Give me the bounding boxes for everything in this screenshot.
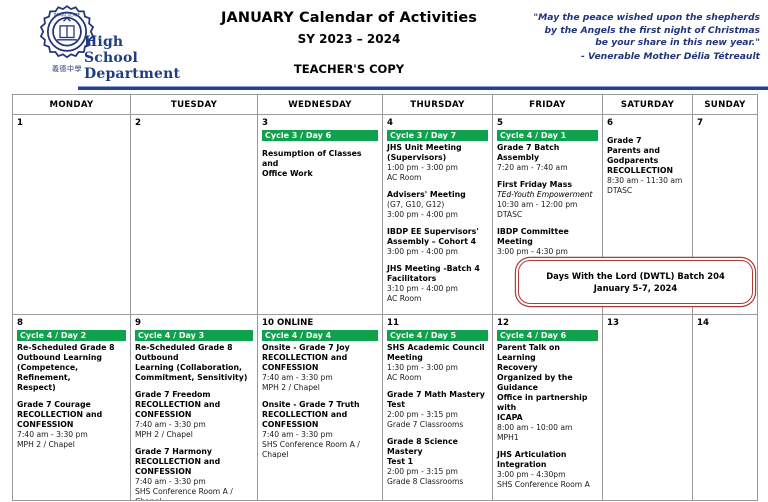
event-title-line: JHS Meeting -Batch 4 <box>387 264 488 274</box>
event-title-line: RECOLLECTION and CONFESSION <box>135 457 253 477</box>
day-number: 2 <box>135 118 253 129</box>
calendar-event[interactable]: Onsite - Grade 7 JoyRECOLLECTION and CON… <box>262 343 378 393</box>
event-title-line: Office in partnership with <box>497 393 598 413</box>
cycle-day-badge: Cycle 4 / Day 2 <box>17 330 126 341</box>
dwtl-title: Days With the Lord (DWTL) Batch 204 <box>546 270 725 282</box>
event-title-line: Office Work <box>262 169 378 179</box>
event-title-line: Grade 7 Math Mastery Test <box>387 390 488 410</box>
event-detail-line: AC Room <box>387 294 488 304</box>
event-detail-line: 1:30 pm - 3:00 pm <box>387 363 488 373</box>
event-title-line: Organized by the Guidance <box>497 373 598 393</box>
department-line-1: High School <box>84 34 180 66</box>
quote-line: "May the peace wished upon the shepherds <box>520 12 760 25</box>
event-title-line: SHS Academic Council <box>387 343 488 353</box>
event-title-line: JHS Unit Meeting <box>387 143 488 153</box>
calendar-day-cell[interactable]: 14 <box>693 315 758 501</box>
event-title-line: Commitment, Sensitivity) <box>135 373 253 383</box>
event-title-line: IBDP EE Supervisors' <box>387 227 488 237</box>
event-detail-line: SHS Conference Room A / Chapel <box>262 440 378 460</box>
day-number: 1 <box>17 118 126 129</box>
cycle-day-badge: Cycle 4 / Day 1 <box>497 130 598 141</box>
quote-block: "May the peace wished upon the shepherds… <box>520 0 768 63</box>
calendar-event[interactable]: JHS Unit Meeting(Supervisors)1:00 pm - 3… <box>387 143 488 183</box>
event-title-line: Meeting <box>387 353 488 363</box>
header-divider <box>78 86 768 90</box>
event-title-line: Learning (Collaboration, <box>135 363 253 373</box>
event-detail-line: 10:30 am - 12:00 pm <box>497 200 598 210</box>
calendar-event[interactable]: SHS Academic CouncilMeeting1:30 pm - 3:0… <box>387 343 488 383</box>
event-title-line: Grade 7 Courage <box>17 400 126 410</box>
event-detail-line: MPH 2 / Chapel <box>135 430 253 440</box>
event-detail-line: 3:00 pm - 4:00 pm <box>387 247 488 257</box>
calendar-week-row: 8Cycle 4 / Day 2Re-Scheduled Grade 8Outb… <box>13 315 758 501</box>
event-detail-line: 1:00 pm - 3:00 pm <box>387 163 488 173</box>
calendar-day-cell[interactable]: 11Cycle 4 / Day 5SHS Academic CouncilMee… <box>383 315 493 501</box>
event-detail-line: 8:30 am - 11:30 am <box>607 176 688 186</box>
event-title-line: Resumption of Classes and <box>262 149 378 169</box>
event-detail-line: MPH 2 / Chapel <box>17 440 126 450</box>
event-detail-line: 7:40 am - 3:30 pm <box>17 430 126 440</box>
calendar-day-cell[interactable]: 1 <box>13 115 131 315</box>
calendar-event[interactable]: Re-Scheduled Grade 8 OutboundLearning (C… <box>135 343 253 383</box>
event-detail-line: AC Room <box>387 173 488 183</box>
event-detail-line: 7:40 am - 3:30 pm <box>135 420 253 430</box>
calendar-event[interactable]: Grade 7 CourageRECOLLECTION andCONFESSIO… <box>17 400 126 450</box>
page-title: JANUARY Calendar of Activities <box>178 10 520 26</box>
calendar-event[interactable]: Grade 7 Math Mastery Test2:00 pm - 3:15 … <box>387 390 488 430</box>
event-title-line: Grade 7 Freedom <box>135 390 253 400</box>
calendar-event[interactable]: Grade 7 HarmonyRECOLLECTION and CONFESSI… <box>135 447 253 501</box>
event-title-line: ICAPA <box>497 413 598 423</box>
quote-attribution: - Venerable Mother Délia Tétreault <box>520 51 760 64</box>
event-detail-line: 7:40 am - 3:30 pm <box>262 430 378 440</box>
day-number: 5 <box>497 118 598 129</box>
calendar-event[interactable]: First Friday MassTEd-Youth Empowerment10… <box>497 180 598 220</box>
event-detail-line: 7:40 am - 3:30 pm <box>262 373 378 383</box>
day-number: 7 <box>697 118 753 129</box>
event-title-line: Respect) <box>17 383 126 393</box>
day-number: 11 <box>387 318 488 329</box>
event-detail-line: 7:40 am - 3:30 pm <box>135 477 253 487</box>
calendar-event[interactable]: JHS Meeting -Batch 4Facilitators3:10 pm … <box>387 264 488 304</box>
event-title-line: Onsite - Grade 7 Joy <box>262 343 378 353</box>
calendar-event[interactable]: IBDP EE Supervisors'Assembly – Cohort 43… <box>387 227 488 257</box>
day-of-week-header: MONDAY <box>13 95 131 115</box>
event-title-line: Test 1 <box>387 457 488 467</box>
department-name: High School Department <box>84 34 180 82</box>
calendar-day-cell[interactable]: 2 <box>131 115 258 315</box>
event-detail-line: 3:00 pm - 4:30pm <box>497 470 598 480</box>
calendar-day-cell[interactable]: 9Cycle 4 / Day 3Re-Scheduled Grade 8 Out… <box>131 315 258 501</box>
cycle-day-badge: Cycle 4 / Day 5 <box>387 330 488 341</box>
event-title-line: RECOLLECTION and CONFESSION <box>262 410 378 430</box>
calendar-event[interactable]: Parent Talk on LearningRecoveryOrganized… <box>497 343 598 443</box>
day-of-week-header: SUNDAY <box>693 95 758 115</box>
event-detail-line: 2:00 pm - 3:15 pm <box>387 467 488 477</box>
cycle-day-badge: Cycle 4 / Day 6 <box>497 330 598 341</box>
calendar-day-cell[interactable]: 13 <box>603 315 693 501</box>
event-detail-line: DTASC <box>607 186 688 196</box>
title-block: JANUARY Calendar of Activities SY 2023 –… <box>178 0 520 76</box>
event-detail-line: 7:20 am - 7:40 am <box>497 163 598 173</box>
event-title-line: Re-Scheduled Grade 8 Outbound <box>135 343 253 363</box>
event-title-line: Outbound Learning <box>17 353 126 363</box>
event-detail-line: SHS Conference Room A / Chapel <box>135 487 253 501</box>
day-of-week-header: SATURDAY <box>603 95 693 115</box>
day-number: 12 <box>497 318 598 329</box>
day-of-week-header: TUESDAY <box>131 95 258 115</box>
event-title-line: Assembly – Cohort 4 <box>387 237 488 247</box>
day-number: 14 <box>697 318 753 329</box>
day-of-week-header-row: MONDAYTUESDAYWEDNESDAYTHURSDAYFRIDAYSATU… <box>13 95 758 115</box>
calendar-day-cell[interactable]: 10 ONLINECycle 4 / Day 4Onsite - Grade 7… <box>258 315 383 501</box>
cycle-day-badge: Cycle 4 / Day 4 <box>262 330 378 341</box>
event-title-line: Parents and Godparents <box>607 146 688 166</box>
cycle-day-badge: Cycle 3 / Day 6 <box>262 130 378 141</box>
dwtl-callout: Days With the Lord (DWTL) Batch 204 Janu… <box>518 260 753 304</box>
event-title-line: JHS Articulation Integration <box>497 450 598 470</box>
quote-line: be your share in this new year." <box>520 37 760 50</box>
dwtl-dates: January 5-7, 2024 <box>546 282 725 294</box>
calendar-event[interactable]: Grade 7 Batch Assembly7:20 am - 7:40 am <box>497 143 598 173</box>
school-year: SY 2023 – 2024 <box>178 32 520 46</box>
event-title-line: Parent Talk on Learning <box>497 343 598 363</box>
event-title-line: RECOLLECTION <box>607 166 688 176</box>
event-detail-line: AC Room <box>387 373 488 383</box>
event-detail-line: 3:00 pm - 4:30 pm <box>497 247 598 257</box>
day-number: 3 <box>262 118 378 129</box>
calendar-event[interactable]: Onsite - Grade 7 TruthRECOLLECTION and C… <box>262 400 378 460</box>
calendar-day-cell[interactable]: 3Cycle 3 / Day 6Resumption of Classes an… <box>258 115 383 315</box>
calendar-event[interactable]: Grade 8 Science MasteryTest 12:00 pm - 3… <box>387 437 488 487</box>
event-detail-line: MPH1 <box>497 433 598 443</box>
event-detail-line: MPH 2 / Chapel <box>262 383 378 393</box>
calendar-event[interactable]: Grade 7 FreedomRECOLLECTION and CONFESSI… <box>135 390 253 440</box>
event-detail-line: 3:10 pm - 4:00 pm <box>387 284 488 294</box>
event-theme-line: TEd-Youth Empowerment <box>497 190 598 200</box>
department-line-2: Department <box>84 66 180 82</box>
event-title-line: Grade 7 <box>607 136 688 146</box>
calendar-page: IMMACULATE 義德中學 High School Department J… <box>0 0 768 502</box>
day-of-week-header: FRIDAY <box>493 95 603 115</box>
calendar-weeks: 123Cycle 3 / Day 6Resumption of Classes … <box>13 115 758 501</box>
school-logo-block: IMMACULATE 義德中學 High School Department <box>0 0 178 90</box>
event-detail-line: 8:00 am - 10:00 am <box>497 423 598 433</box>
calendar-day-cell[interactable]: 4Cycle 3 / Day 7JHS Unit Meeting(Supervi… <box>383 115 493 315</box>
calendar-event[interactable]: Resumption of Classes andOffice Work <box>262 149 378 179</box>
day-number: 8 <box>17 318 126 329</box>
event-detail-line: SHS Conference Room A <box>497 480 598 490</box>
quote-line: by the Angels the first night of Christm… <box>520 25 760 38</box>
day-of-week-header: THURSDAY <box>383 95 493 115</box>
cycle-day-badge: Cycle 3 / Day 7 <box>387 130 488 141</box>
event-title-line: (Supervisors) <box>387 153 488 163</box>
event-title-line: RECOLLECTION and CONFESSION <box>262 353 378 373</box>
event-title-line: First Friday Mass <box>497 180 598 190</box>
event-title-line: Advisers' Meeting <box>387 190 488 200</box>
event-title-line: Onsite - Grade 7 Truth <box>262 400 378 410</box>
svg-text:IMMACULATE: IMMACULATE <box>54 13 81 18</box>
event-title-line: Re-Scheduled Grade 8 <box>17 343 126 353</box>
calendar-event[interactable]: Re-Scheduled Grade 8Outbound Learning(Co… <box>17 343 126 393</box>
page-header: IMMACULATE 義德中學 High School Department J… <box>0 0 768 90</box>
day-number: 13 <box>607 318 688 329</box>
calendar-day-cell[interactable]: 8Cycle 4 / Day 2Re-Scheduled Grade 8Outb… <box>13 315 131 501</box>
calendar-event[interactable]: IBDP Committee Meeting3:00 pm - 4:30 pm <box>497 227 598 257</box>
event-detail-line: Grade 7 Classrooms <box>387 420 488 430</box>
event-title-line: CONFESSION <box>17 420 126 430</box>
copy-label: TEACHER'S COPY <box>178 62 520 76</box>
cycle-day-badge: Cycle 4 / Day 3 <box>135 330 253 341</box>
event-title-line: Recovery <box>497 363 598 373</box>
event-detail-line: 2:00 pm - 3:15 pm <box>387 410 488 420</box>
event-detail-line: DTASC <box>497 210 598 220</box>
event-title-line: (Competence, Refinement, <box>17 363 126 383</box>
day-number: 10 ONLINE <box>262 318 378 329</box>
calendar-event[interactable]: Grade 7Parents and GodparentsRECOLLECTIO… <box>607 136 688 196</box>
day-number: 6 <box>607 118 688 129</box>
calendar-event[interactable]: Advisers' Meeting(G7, G10, G12)3:00 pm -… <box>387 190 488 220</box>
dwtl-callout-text: Days With the Lord (DWTL) Batch 204 Janu… <box>546 270 725 294</box>
event-title-line: Grade 7 Harmony <box>135 447 253 457</box>
event-title-line: RECOLLECTION and CONFESSION <box>135 400 253 420</box>
event-detail-line: 3:00 pm - 4:00 pm <box>387 210 488 220</box>
event-detail-line: (G7, G10, G12) <box>387 200 488 210</box>
event-title-line: IBDP Committee Meeting <box>497 227 598 247</box>
event-title-line: Facilitators <box>387 274 488 284</box>
calendar-day-cell[interactable]: 12Cycle 4 / Day 6Parent Talk on Learning… <box>493 315 603 501</box>
event-title-line: Grade 8 Science Mastery <box>387 437 488 457</box>
day-number: 4 <box>387 118 488 129</box>
event-detail-line: Grade 8 Classrooms <box>387 477 488 487</box>
event-title-line: RECOLLECTION and <box>17 410 126 420</box>
day-number: 9 <box>135 318 253 329</box>
calendar-event[interactable]: JHS Articulation Integration3:00 pm - 4:… <box>497 450 598 490</box>
event-title-line: Grade 7 Batch Assembly <box>497 143 598 163</box>
day-of-week-header: WEDNESDAY <box>258 95 383 115</box>
